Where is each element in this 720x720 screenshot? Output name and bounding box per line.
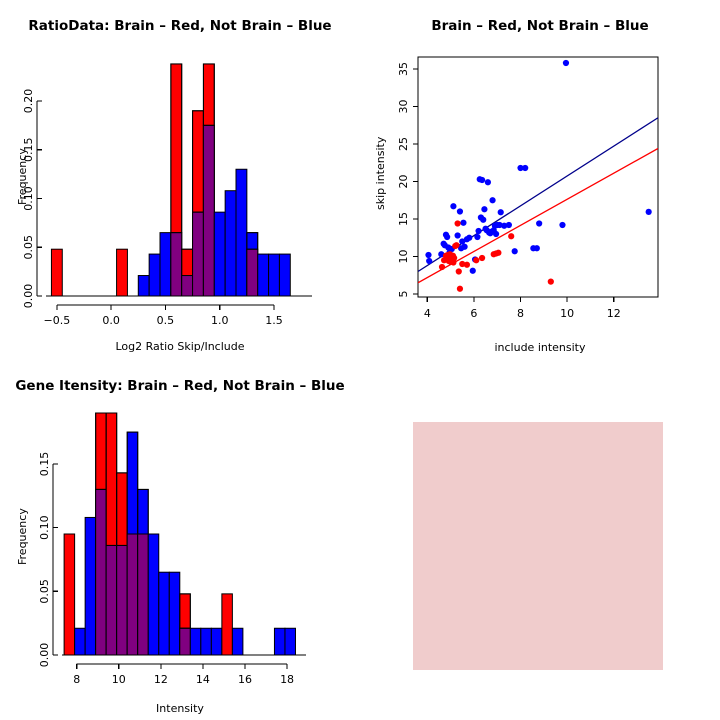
scatter-point bbox=[459, 238, 465, 244]
scatter-point bbox=[480, 217, 486, 223]
x-tick-label: 8 bbox=[517, 307, 524, 320]
panel-gene-info: G7094875@J936236_RC@j_at altCassette A23… bbox=[360, 360, 720, 720]
scatter-point bbox=[444, 234, 450, 240]
x-tick-label: 1.0 bbox=[211, 314, 229, 327]
regression-line bbox=[418, 118, 658, 272]
scatter-point bbox=[462, 244, 468, 250]
x-tick-label: 8 bbox=[73, 673, 80, 686]
x-tick-label: 0.5 bbox=[157, 314, 175, 327]
hist-bar-brain bbox=[203, 64, 214, 296]
y-tick-label: 0.10 bbox=[38, 515, 51, 540]
hist-bar-brain bbox=[64, 534, 75, 655]
hist-bar-brain bbox=[193, 111, 204, 296]
scatter-point bbox=[474, 234, 480, 240]
figure-canvas: RatioData: Brain – Red, Not Brain – Blue… bbox=[0, 0, 720, 720]
hist-bar-not-brain bbox=[203, 125, 214, 296]
hist-bar-overlap bbox=[171, 233, 182, 296]
scatter-point bbox=[485, 179, 491, 185]
scatter-point bbox=[445, 244, 451, 250]
hist-bar-overlap bbox=[106, 545, 117, 655]
scatter-point bbox=[450, 259, 456, 265]
hist-bar-not-brain bbox=[269, 254, 280, 296]
scatter-point bbox=[458, 245, 464, 251]
scatter-point bbox=[425, 252, 431, 258]
hist-bar-overlap bbox=[117, 545, 128, 655]
hist-bar-outline bbox=[247, 233, 258, 250]
scatter-point bbox=[446, 256, 452, 262]
scatter-point bbox=[441, 257, 447, 263]
scatter-point bbox=[496, 222, 502, 228]
scatter-point bbox=[498, 209, 504, 215]
hist-bar-not-brain bbox=[214, 212, 225, 296]
y-tick-label: 10 bbox=[397, 250, 410, 264]
scatter-point bbox=[487, 230, 493, 236]
hist-bar-brain bbox=[222, 594, 233, 655]
scatter-point bbox=[450, 253, 456, 259]
scatter-point bbox=[491, 251, 497, 257]
scatter-point bbox=[464, 236, 470, 242]
scatter-point bbox=[426, 258, 432, 264]
hist-bar-not-brain bbox=[182, 276, 193, 296]
scatter-point bbox=[478, 214, 484, 220]
hist-bar-not-brain bbox=[138, 489, 149, 655]
hist-bar-outline bbox=[203, 64, 214, 125]
y-tick-label: 30 bbox=[397, 100, 410, 114]
panel-gene-histogram: Gene Itensity: Brain – Red, Not Brain – … bbox=[0, 360, 360, 720]
hist-bar-outline bbox=[193, 111, 204, 212]
hist-bar-brain bbox=[182, 249, 193, 296]
scatter-point bbox=[486, 229, 492, 235]
scatter-point bbox=[446, 258, 452, 264]
hist-bar-not-brain bbox=[171, 233, 182, 296]
scatter-point bbox=[548, 279, 554, 285]
scatter-point bbox=[449, 257, 455, 263]
hist-bar-not-brain bbox=[201, 628, 212, 655]
regression-line bbox=[418, 149, 658, 283]
hist-bar-brain bbox=[138, 534, 149, 655]
hist-bar-outline bbox=[96, 413, 107, 489]
y-tick-label: 35 bbox=[397, 62, 410, 76]
gene-histogram-plot: 0.000.050.100.1581012141618 bbox=[0, 360, 360, 720]
panel-ratio-title: RatioData: Brain – Red, Not Brain – Blue bbox=[0, 18, 360, 34]
info-panel-background bbox=[413, 422, 663, 670]
scatter-point bbox=[439, 264, 445, 270]
scatter-point bbox=[472, 256, 478, 262]
hist-bar-outline bbox=[138, 489, 149, 534]
hist-bar-outline bbox=[171, 64, 182, 233]
x-tick-label: 14 bbox=[196, 673, 210, 686]
hist-bar-brain bbox=[180, 594, 191, 655]
scatter-point bbox=[522, 165, 528, 171]
scatter-point bbox=[475, 228, 481, 234]
hist-bar-outline bbox=[117, 473, 128, 546]
hist-bar-not-brain bbox=[180, 628, 191, 655]
scatter-point bbox=[473, 257, 479, 263]
scatter-plot: 51015202530354681012 bbox=[360, 0, 720, 360]
scatter-point bbox=[443, 232, 449, 238]
hist-bar-not-brain bbox=[127, 432, 138, 655]
y-tick-label: 0.15 bbox=[38, 452, 51, 477]
hist-bar-outline bbox=[106, 413, 117, 545]
y-tick-label: 20 bbox=[397, 175, 410, 189]
hist-bar-not-brain bbox=[258, 254, 269, 296]
scatter-point bbox=[451, 255, 457, 261]
hist-bar-overlap bbox=[127, 534, 138, 655]
scatter-point bbox=[448, 254, 454, 260]
hist-bar-brain bbox=[51, 249, 62, 296]
scatter-point bbox=[449, 246, 455, 252]
scatter-point bbox=[495, 250, 501, 256]
hist-bar-not-brain bbox=[148, 534, 159, 655]
panel-scatter-ylabel: skip intensity bbox=[374, 137, 387, 210]
hist-bar-brain bbox=[247, 249, 258, 296]
scatter-point bbox=[492, 223, 498, 229]
hist-bar-overlap bbox=[180, 628, 191, 655]
plot-frame bbox=[418, 57, 658, 297]
scatter-point bbox=[494, 222, 500, 228]
y-tick-label: 0.05 bbox=[38, 579, 51, 604]
hist-bar-not-brain bbox=[285, 628, 296, 655]
x-tick-label: 6 bbox=[470, 307, 477, 320]
scatter-point bbox=[450, 203, 456, 209]
scatter-point bbox=[457, 208, 463, 214]
scatter-point bbox=[447, 251, 453, 257]
hist-bar-not-brain bbox=[190, 628, 201, 655]
scatter-point bbox=[530, 245, 536, 251]
scatter-point bbox=[444, 254, 450, 260]
hist-bar-overlap bbox=[96, 489, 107, 655]
scatter-point bbox=[438, 251, 444, 257]
y-tick-label: 5 bbox=[397, 291, 410, 298]
scatter-point bbox=[506, 222, 512, 228]
hist-bar-brain bbox=[127, 534, 138, 655]
scatter-point bbox=[477, 176, 483, 182]
scatter-point bbox=[488, 229, 494, 235]
scatter-point bbox=[646, 209, 652, 215]
hist-bar-not-brain bbox=[138, 276, 149, 296]
scatter-point bbox=[450, 257, 456, 263]
scatter-point bbox=[460, 220, 466, 226]
scatter-point bbox=[443, 253, 449, 259]
hist-bar-not-brain bbox=[159, 572, 170, 655]
hist-bar-not-brain bbox=[160, 233, 171, 296]
hist-bar-not-brain bbox=[169, 572, 180, 655]
x-tick-label: 12 bbox=[607, 307, 621, 320]
hist-bar-not-brain bbox=[225, 191, 236, 296]
scatter-point bbox=[453, 242, 459, 248]
hist-bar-outline bbox=[127, 432, 138, 534]
y-tick-label: 0.00 bbox=[22, 284, 35, 309]
x-tick-label: 12 bbox=[154, 673, 168, 686]
scatter-point bbox=[455, 220, 461, 226]
hist-bar-not-brain bbox=[247, 233, 258, 296]
hist-bar-not-brain bbox=[149, 254, 160, 296]
scatter-point bbox=[448, 253, 454, 259]
hist-bar-not-brain bbox=[106, 545, 117, 655]
hist-bar-outline bbox=[180, 594, 191, 628]
scatter-point bbox=[563, 60, 569, 66]
scatter-point bbox=[449, 253, 455, 259]
panel-intensity-scatter: Brain – Red, Not Brain – Blue skip inten… bbox=[360, 0, 720, 360]
scatter-point bbox=[489, 197, 495, 203]
scatter-point bbox=[479, 255, 485, 261]
hist-bar-brain bbox=[106, 413, 117, 655]
scatter-point bbox=[534, 245, 540, 251]
scatter-point bbox=[456, 268, 462, 274]
hist-bar-brain bbox=[96, 413, 107, 655]
scatter-point bbox=[446, 250, 452, 256]
scatter-point bbox=[493, 231, 499, 237]
y-tick-label: 0.05 bbox=[22, 235, 35, 260]
scatter-point bbox=[452, 243, 458, 249]
scatter-point bbox=[491, 227, 497, 233]
y-tick-label: 0.00 bbox=[38, 643, 51, 668]
hist-bar-not-brain bbox=[279, 254, 290, 296]
scatter-point bbox=[484, 227, 490, 233]
panel-scatter-xlabel: include intensity bbox=[360, 341, 720, 354]
scatter-point bbox=[457, 286, 463, 292]
scatter-point bbox=[512, 248, 518, 254]
x-tick-label: 16 bbox=[238, 673, 252, 686]
scatter-point bbox=[493, 250, 499, 256]
hist-bar-overlap bbox=[138, 534, 149, 655]
hist-bar-not-brain bbox=[96, 489, 107, 655]
scatter-point bbox=[470, 268, 476, 274]
scatter-point bbox=[501, 223, 507, 229]
scatter-point bbox=[481, 206, 487, 212]
y-tick-label: 0.20 bbox=[22, 89, 35, 114]
x-tick-label: 4 bbox=[424, 307, 431, 320]
hist-bar-outline bbox=[182, 249, 193, 275]
hist-bar-not-brain bbox=[117, 545, 128, 655]
scatter-point bbox=[482, 226, 488, 232]
scatter-content bbox=[418, 60, 658, 292]
scatter-point bbox=[459, 261, 465, 267]
panel-gene-ylabel: Frequency bbox=[16, 508, 29, 565]
ratio-histogram-plot: 0.000.050.100.150.20−0.50.00.51.01.5 bbox=[0, 0, 360, 360]
hist-bar-not-brain bbox=[193, 212, 204, 296]
scatter-point bbox=[466, 235, 472, 241]
panel-scatter-title: Brain – Red, Not Brain – Blue bbox=[360, 18, 720, 34]
y-tick-label: 25 bbox=[397, 137, 410, 151]
scatter-point bbox=[445, 252, 451, 258]
hist-bar-not-brain bbox=[232, 628, 243, 655]
y-tick-label: 15 bbox=[397, 212, 410, 226]
scatter-point bbox=[464, 262, 470, 268]
scatter-point bbox=[508, 233, 514, 239]
hist-bar-not-brain bbox=[236, 169, 247, 296]
hist-bar-overlap bbox=[182, 276, 193, 296]
hist-bar-brain bbox=[117, 473, 128, 655]
hist-bar-overlap bbox=[203, 125, 214, 296]
scatter-point bbox=[442, 242, 448, 248]
x-tick-label: 1.5 bbox=[265, 314, 283, 327]
scatter-point bbox=[559, 222, 565, 228]
scatter-point bbox=[536, 220, 542, 226]
panel-gene-title: Gene Itensity: Brain – Red, Not Brain – … bbox=[0, 378, 360, 394]
hist-bar-overlap bbox=[193, 212, 204, 296]
scatter-point bbox=[441, 241, 447, 247]
x-tick-label: 10 bbox=[560, 307, 574, 320]
hist-bar-brain bbox=[117, 249, 128, 296]
x-tick-label: −0.5 bbox=[43, 314, 70, 327]
hist-bar-not-brain bbox=[211, 628, 222, 655]
x-tick-label: 0.0 bbox=[102, 314, 120, 327]
panel-gene-xlabel: Intensity bbox=[0, 702, 360, 715]
hist-bar-overlap bbox=[247, 249, 258, 296]
scatter-point bbox=[479, 177, 485, 183]
hist-bar-not-brain bbox=[274, 628, 285, 655]
scatter-point bbox=[448, 259, 454, 265]
hist-bar-not-brain bbox=[85, 517, 96, 655]
scatter-point bbox=[455, 232, 461, 238]
panel-ratio-xlabel: Log2 Ratio Skip/Include bbox=[0, 340, 360, 353]
scatter-point bbox=[517, 165, 523, 171]
hist-bar-not-brain bbox=[75, 628, 86, 655]
panel-ratio-ylabel: Frequency bbox=[16, 148, 29, 205]
x-tick-label: 10 bbox=[112, 673, 126, 686]
x-tick-label: 18 bbox=[280, 673, 294, 686]
hist-bar-brain bbox=[171, 64, 182, 296]
panel-ratio-histogram: RatioData: Brain – Red, Not Brain – Blue… bbox=[0, 0, 360, 360]
